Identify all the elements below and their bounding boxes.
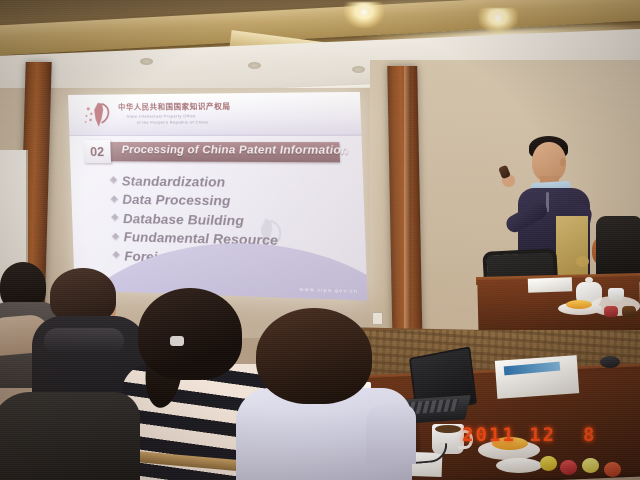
- fruit-item: [540, 456, 557, 471]
- slide-header: 中华人民共和国国家知识产权局 State Intellectual Proper…: [68, 92, 361, 136]
- document-on-podium: [528, 277, 572, 293]
- bullet-label: Data Processing: [122, 192, 231, 209]
- bullet-label: Standardization: [121, 173, 225, 189]
- attendee-hair: [256, 308, 372, 404]
- presenter-ear: [560, 158, 566, 167]
- slide-org-name-en-line1: State Intellectual Property Office: [126, 113, 196, 118]
- diamond-bullet-icon: [110, 195, 119, 204]
- slide-section-number: 02: [83, 140, 111, 163]
- slide-section-title: Processing of China Patent Information: [121, 144, 349, 157]
- downlight-icon: [140, 58, 153, 65]
- attendee-lavender-top: [238, 308, 418, 480]
- coffee-liquid: [435, 425, 461, 433]
- camera-datestamp: 2011 12 8: [462, 424, 596, 446]
- downlight-icon: [352, 66, 365, 73]
- attendee-shoulder-highlight: [44, 328, 124, 354]
- fruit-item: [560, 460, 577, 475]
- diamond-bullet-icon: [112, 251, 121, 260]
- sipo-logo-icon: [82, 101, 117, 129]
- diamond-bullet-icon: [111, 214, 120, 223]
- slide-org-name-cn: 中华人民共和国国家知识产权局: [118, 102, 231, 113]
- bullet-label: Database Building: [123, 211, 245, 229]
- teacup: [608, 288, 624, 302]
- diamond-bullet-icon: [109, 176, 118, 185]
- chair-background: [596, 216, 640, 282]
- small-plate: [496, 458, 542, 473]
- hair-clip: [170, 336, 184, 346]
- photograph-conference-presentation: 中华人民共和国国家知识产权局 State Intellectual Proper…: [0, 0, 640, 480]
- slide-title-bar: 02 Processing of China Patent Informatio…: [89, 142, 340, 162]
- computer-mouse[interactable]: [600, 356, 620, 368]
- ceiling-light-icon: [478, 8, 518, 34]
- slide-org-name-en-line2: of the People's Republic of China: [137, 119, 208, 124]
- list-item: Standardization: [110, 171, 301, 192]
- fruit-item: [582, 458, 599, 473]
- diamond-bullet-icon: [111, 233, 120, 242]
- attendee-hair: [50, 268, 116, 322]
- food-item: [566, 300, 592, 309]
- attendee-hair: [138, 288, 242, 380]
- document-pages: [495, 355, 579, 399]
- dessert-item: [622, 306, 636, 317]
- ceiling-light-icon: [344, 2, 384, 28]
- fruit-item: [604, 462, 621, 477]
- foreground-coat: [0, 392, 140, 480]
- attendee-arm: [366, 404, 416, 464]
- downlight-icon: [248, 62, 261, 69]
- dessert-item: [604, 306, 618, 317]
